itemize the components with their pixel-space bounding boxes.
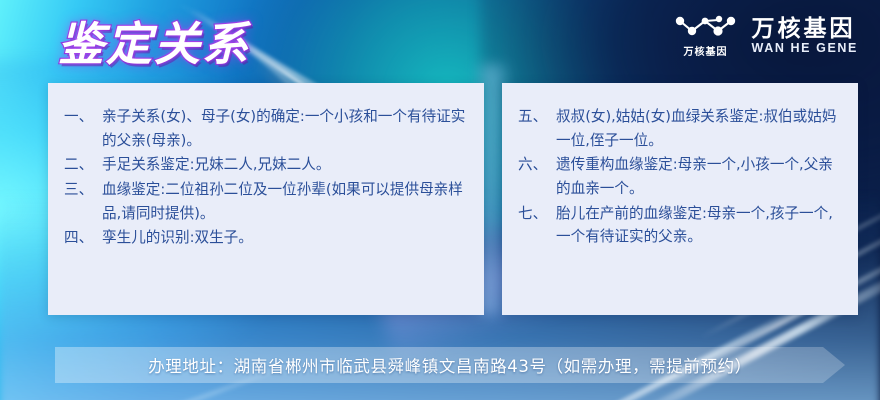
- list-item-text: 孪生儿的识别:双生子。: [102, 226, 466, 250]
- list-item-number: 五、: [518, 105, 556, 129]
- list-item-text: 遗传重构血缘鉴定:母亲一个,小孩一个,父亲的血亲一个。: [556, 153, 840, 200]
- list-item-text: 亲子关系(女)、母子(女)的确定:一个小孩和一个有待证实的父亲(母亲)。: [102, 105, 466, 152]
- brand-words: 万核基因 WAN HE GENE: [752, 16, 859, 56]
- list-item: 五、 叔叔(女),姑姑(女)血绿关系鉴定:叔伯或姑妈一位,侄子一位。: [518, 105, 840, 152]
- address-text: 办理地址：湖南省郴州市临武县舜峰镇文昌南路43号（如需办理，需提前预约）: [55, 347, 845, 383]
- list-item-number: 三、: [64, 178, 102, 202]
- address-bar: 办理地址：湖南省郴州市临武县舜峰镇文昌南路43号（如需办理，需提前预约）: [55, 347, 845, 383]
- list-item: 二、 手足关系鉴定:兄妹二人,兄妹二人。: [64, 153, 466, 177]
- list-item-text: 手足关系鉴定:兄妹二人,兄妹二人。: [102, 153, 466, 177]
- brand-mark-label: 万核基因: [684, 43, 728, 58]
- panel-left: 一、 亲子关系(女)、母子(女)的确定:一个小孩和一个有待证实的父亲(母亲)。 …: [48, 83, 484, 315]
- list-item-number: 四、: [64, 226, 102, 250]
- list-item-text: 叔叔(女),姑姑(女)血绿关系鉴定:叔伯或姑妈一位,侄子一位。: [556, 105, 840, 152]
- panel-left-content: 一、 亲子关系(女)、母子(女)的确定:一个小孩和一个有待证实的父亲(母亲)。 …: [48, 83, 484, 250]
- list-item: 六、 遗传重构血缘鉴定:母亲一个,小孩一个,父亲的血亲一个。: [518, 153, 840, 200]
- panel-right: 五、 叔叔(女),姑姑(女)血绿关系鉴定:叔伯或姑妈一位,侄子一位。 六、 遗传…: [502, 83, 858, 315]
- list-item-number: 一、: [64, 105, 102, 129]
- list-item-number: 七、: [518, 202, 556, 226]
- brand-logo: 万核基因 万核基因 WAN HE GENE: [674, 14, 859, 58]
- list-item: 三、 血缘鉴定:二位祖孙二位及一位孙辈(如果可以提供母亲样品,请同时提供)。: [64, 178, 466, 225]
- list-item-number: 二、: [64, 153, 102, 177]
- list-item-text: 胎儿在产前的血缘鉴定:母亲一个,孩子一个,一个有待证实的父亲。: [556, 202, 840, 249]
- molecule-icon: [674, 14, 738, 40]
- brand-mark: 万核基因: [674, 14, 738, 58]
- brand-name-en: WAN HE GENE: [752, 42, 859, 56]
- list-item: 四、 孪生儿的识别:双生子。: [64, 226, 466, 250]
- list-item: 七、 胎儿在产前的血缘鉴定:母亲一个,孩子一个,一个有待证实的父亲。: [518, 202, 840, 249]
- brand-name-cn: 万核基因: [752, 16, 859, 41]
- panel-right-content: 五、 叔叔(女),姑姑(女)血绿关系鉴定:叔伯或姑妈一位,侄子一位。 六、 遗传…: [502, 83, 858, 249]
- page-title: 鉴定关系: [58, 8, 250, 74]
- list-item: 一、 亲子关系(女)、母子(女)的确定:一个小孩和一个有待证实的父亲(母亲)。: [64, 105, 466, 152]
- banner-root: 鉴定关系: [0, 0, 880, 400]
- list-item-number: 六、: [518, 153, 556, 177]
- list-item-text: 血缘鉴定:二位祖孙二位及一位孙辈(如果可以提供母亲样品,请同时提供)。: [102, 178, 466, 225]
